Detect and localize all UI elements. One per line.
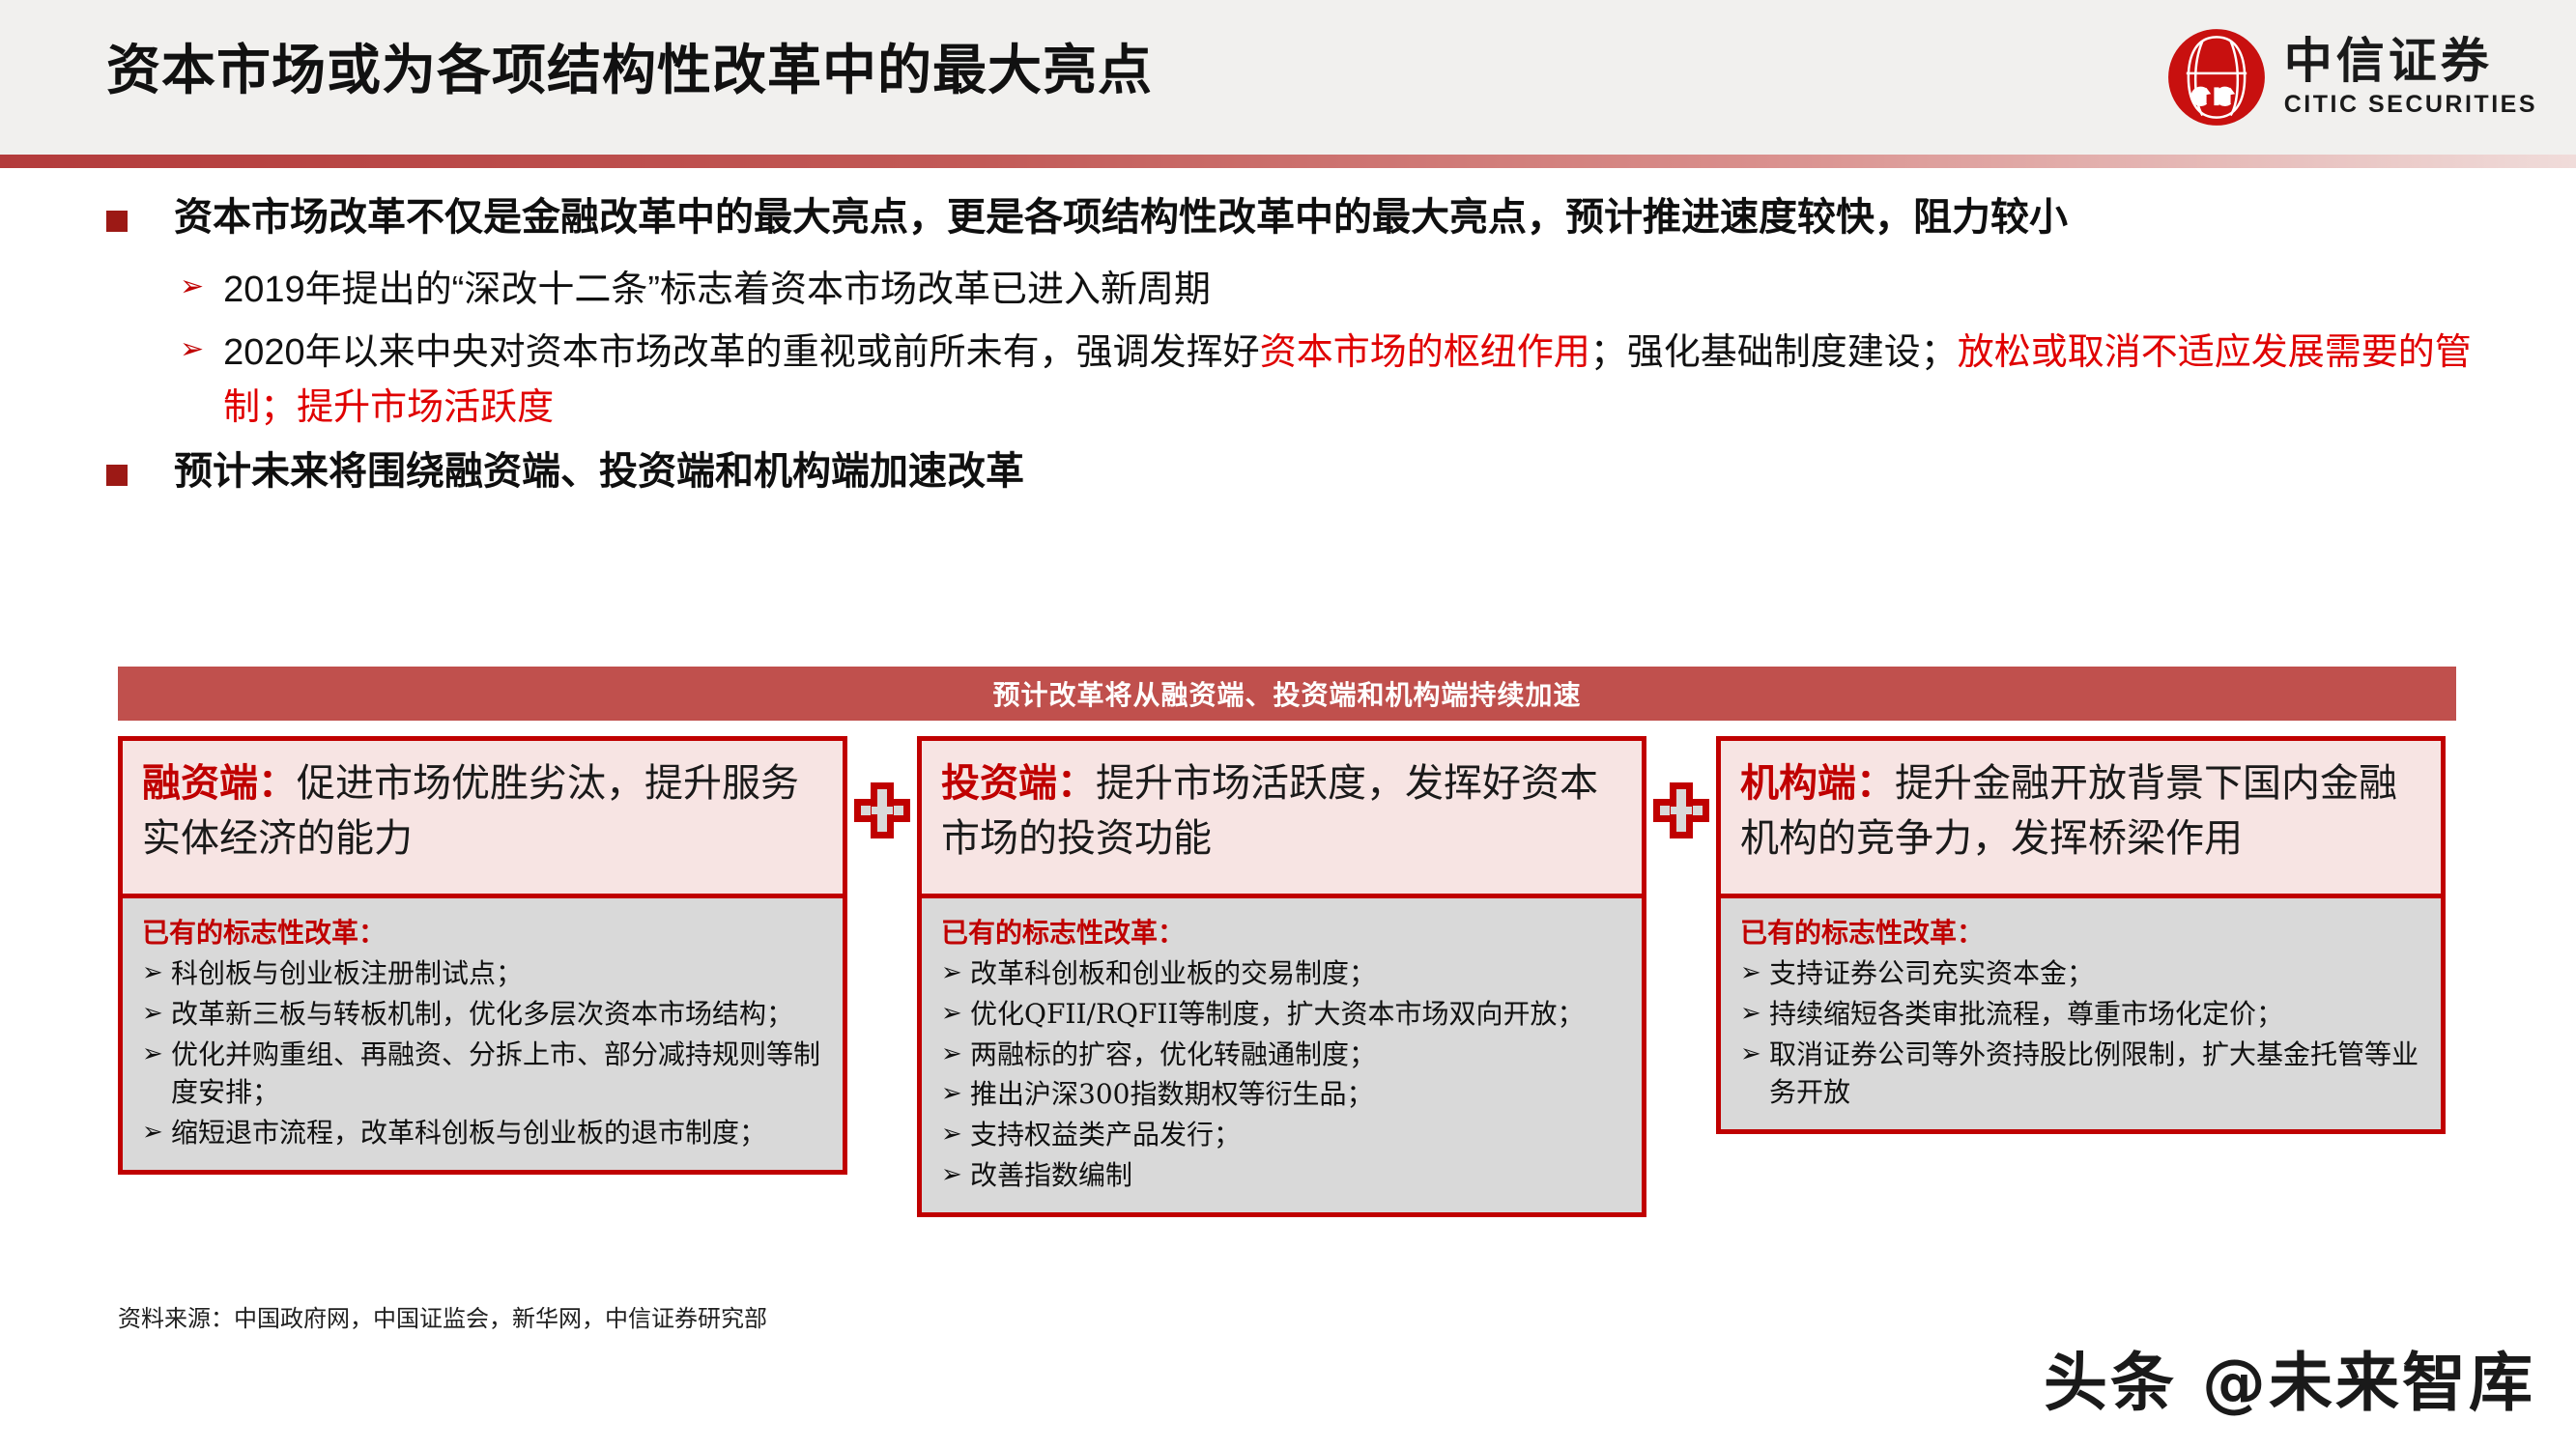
list-item-text: 持续缩短各类审批流程，尊重市场化定价； bbox=[1769, 995, 2423, 1034]
column-label: 机构端： bbox=[1740, 760, 1895, 806]
column-headline: 机构端：提升金融开放背景下国内金融机构的竞争力，发挥桥梁作用 bbox=[1740, 756, 2421, 867]
bullet-level2-text-rich: 2020年以来中央对资本市场改革的重视或前所未有，强调发挥好资本市场的枢纽作用；… bbox=[223, 326, 2523, 436]
list-item: ➢推出沪深300指数期权等衍生品； bbox=[941, 1075, 1624, 1114]
column-header-box: 机构端：提升金融开放背景下国内金融机构的竞争力，发挥桥梁作用 bbox=[1716, 736, 2446, 898]
arrow-bullet-icon: ➢ bbox=[142, 1036, 171, 1073]
bullet-list: 资本市场改革不仅是金融改革中的最大亮点，更是各项结构性改革中的最大亮点，预计推进… bbox=[0, 189, 2576, 517]
list-item-text: 优化并购重组、再融资、分拆上市、部分减持规则等制度安排； bbox=[171, 1036, 825, 1113]
list-item: ➢改善指数编制 bbox=[941, 1156, 1624, 1195]
bullet-level1-text: 资本市场改革不仅是金融改革中的最大亮点，更是各项结构性改革中的最大亮点，预计推进… bbox=[174, 189, 2068, 245]
section-banner: 预计改革将从融资端、投资端和机构端持续加速 bbox=[118, 667, 2456, 721]
arrow-bullet-icon: ➢ bbox=[1740, 954, 1769, 992]
column-header-box: 投资端：提升市场活跃度，发挥好资本市场的投资功能 bbox=[917, 736, 1646, 898]
column-label: 融资端： bbox=[142, 760, 297, 806]
list-item: ➢优化QFII/RQFII等制度，扩大资本市场双向开放； bbox=[941, 995, 1624, 1034]
column-body-title: 已有的标志性改革： bbox=[941, 912, 1624, 951]
logo-wordmark: 中信证券 CITIC SECURITIES bbox=[2284, 36, 2537, 119]
arrow-bullet-icon: ➢ bbox=[180, 335, 204, 364]
list-item: ➢取消证券公司等外资持股比例限制，扩大基金托管等业务开放 bbox=[1740, 1036, 2423, 1113]
arrow-bullet-icon: ➢ bbox=[142, 1114, 171, 1151]
arrow-bullet-icon: ➢ bbox=[941, 1075, 970, 1113]
column-headline: 投资端：提升市场活跃度，发挥好资本市场的投资功能 bbox=[941, 756, 1622, 867]
square-bullet-icon bbox=[106, 211, 128, 232]
list-item-text: 支持证券公司充实资本金； bbox=[1769, 954, 2423, 993]
list-item-text: 缩短退市流程，改革科创板与创业板的退市制度； bbox=[171, 1114, 825, 1152]
list-item-text: 支持权益类产品发行； bbox=[970, 1116, 1624, 1154]
arrow-bullet-icon: ➢ bbox=[941, 1036, 970, 1073]
list-item: ➢优化并购重组、再融资、分拆上市、部分减持规则等制度安排； bbox=[142, 1036, 825, 1113]
arrow-bullet-icon: ➢ bbox=[941, 954, 970, 992]
column-body-title: 已有的标志性改革： bbox=[1740, 912, 2423, 951]
column-header-box: 融资端：促进市场优胜劣汰，提升服务实体经济的能力 bbox=[118, 736, 847, 898]
list-item: ➢支持权益类产品发行； bbox=[941, 1116, 1624, 1154]
list-item-text: 推出沪深300指数期权等衍生品； bbox=[970, 1075, 1624, 1114]
connector-slot bbox=[1646, 736, 1716, 838]
column-headline: 融资端：促进市场优胜劣汰，提升服务实体经济的能力 bbox=[142, 756, 823, 867]
arrow-bullet-icon: ➢ bbox=[941, 1116, 970, 1153]
source-note: 资料来源：中国政府网，中国证监会，新华网，中信证券研究部 bbox=[118, 1299, 767, 1333]
list-item: ➢缩短退市流程，改革科创板与创业板的退市制度； bbox=[142, 1114, 825, 1152]
connector-slot bbox=[847, 736, 917, 838]
column-label: 投资端： bbox=[941, 760, 1096, 806]
bullet-level2-item: ➢ 2020年以来中央对资本市场改革的重视或前所未有，强调发挥好资本市场的枢纽作… bbox=[0, 326, 2576, 436]
arrow-bullet-icon: ➢ bbox=[180, 272, 204, 301]
square-bullet-icon bbox=[106, 465, 128, 486]
slide-header: 资本市场或为各项结构性改革中的最大亮点 中信证券 CITIC SECURITIE… bbox=[0, 0, 2576, 155]
watermark: 头条 @未来智库 bbox=[2044, 1331, 2535, 1424]
column-institution-side: 机构端：提升金融开放背景下国内金融机构的竞争力，发挥桥梁作用 已有的标志性改革：… bbox=[1716, 736, 2446, 1134]
column-body-box: 已有的标志性改革： ➢支持证券公司充实资本金； ➢持续缩短各类审批流程，尊重市场… bbox=[1716, 898, 2446, 1134]
column-body-title: 已有的标志性改革： bbox=[142, 912, 825, 951]
list-item: ➢科创板与创业板注册制试点； bbox=[142, 954, 825, 993]
list-item-text: 科创板与创业板注册制试点； bbox=[171, 954, 825, 993]
citic-emblem-icon bbox=[2166, 27, 2267, 128]
list-item: ➢支持证券公司充实资本金； bbox=[1740, 954, 2423, 993]
list-item: ➢改革科创板和创业板的交易制度； bbox=[941, 954, 1624, 993]
list-item-text: 取消证券公司等外资持股比例限制，扩大基金托管等业务开放 bbox=[1769, 1036, 2423, 1113]
list-item: ➢两融标的扩容，优化转融通制度； bbox=[941, 1036, 1624, 1074]
logo-chinese-name: 中信证券 bbox=[2284, 36, 2537, 87]
bullet-level1-text: 预计未来将围绕融资端、投资端和机构端加速改革 bbox=[174, 443, 1024, 499]
column-financing-side: 融资端：促进市场优胜劣汰，提升服务实体经济的能力 已有的标志性改革： ➢科创板与… bbox=[118, 736, 847, 1175]
logo-english-name: CITIC SECURITIES bbox=[2284, 91, 2537, 119]
arrow-bullet-icon: ➢ bbox=[941, 995, 970, 1033]
column-investment-side: 投资端：提升市场活跃度，发挥好资本市场的投资功能 已有的标志性改革： ➢改革科创… bbox=[917, 736, 1646, 1217]
bullet-level2-text: 2019年提出的“深改十二条”标志着资本市场改革已进入新周期 bbox=[223, 263, 1211, 318]
text-highlight: 资本市场的枢纽作用 bbox=[1260, 332, 1590, 373]
list-item-text: 改革新三板与转板机制，优化多层次资本市场结构； bbox=[171, 995, 825, 1034]
page-title: 资本市场或为各项结构性改革中的最大亮点 bbox=[106, 27, 1153, 105]
bullet-level2-item: ➢ 2019年提出的“深改十二条”标志着资本市场改革已进入新周期 bbox=[0, 263, 2576, 318]
text-plain: 2020年以来中央对资本市场改革的重视或前所未有，强调发挥好 bbox=[223, 332, 1260, 373]
list-item: ➢改革新三板与转板机制，优化多层次资本市场结构； bbox=[142, 995, 825, 1034]
bullet-level1-item: 预计未来将围绕融资端、投资端和机构端加速改革 bbox=[0, 443, 2576, 499]
plus-icon bbox=[1653, 782, 1709, 838]
text-plain: ；强化基础制度建设； bbox=[1590, 332, 1958, 373]
arrow-bullet-icon: ➢ bbox=[142, 954, 171, 992]
citic-securities-logo: 中信证券 CITIC SECURITIES bbox=[2166, 21, 2537, 133]
arrow-bullet-icon: ➢ bbox=[1740, 1036, 1769, 1073]
list-item: ➢持续缩短各类审批流程，尊重市场化定价； bbox=[1740, 995, 2423, 1034]
list-item-text: 改善指数编制 bbox=[970, 1156, 1624, 1195]
column-body-box: 已有的标志性改革： ➢科创板与创业板注册制试点； ➢改革新三板与转板机制，优化多… bbox=[118, 898, 847, 1175]
column-body-box: 已有的标志性改革： ➢改革科创板和创业板的交易制度； ➢优化QFII/RQFII… bbox=[917, 898, 1646, 1217]
arrow-bullet-icon: ➢ bbox=[1740, 995, 1769, 1033]
list-item-text: 改革科创板和创业板的交易制度； bbox=[970, 954, 1624, 993]
plus-icon bbox=[854, 782, 910, 838]
arrow-bullet-icon: ➢ bbox=[142, 995, 171, 1033]
list-item-text: 两融标的扩容，优化转融通制度； bbox=[970, 1036, 1624, 1074]
arrow-bullet-icon: ➢ bbox=[941, 1156, 970, 1194]
reform-columns: 融资端：促进市场优胜劣汰，提升服务实体经济的能力 已有的标志性改革： ➢科创板与… bbox=[118, 736, 2456, 1217]
list-item-text: 优化QFII/RQFII等制度，扩大资本市场双向开放； bbox=[970, 995, 1624, 1034]
bullet-level1-item: 资本市场改革不仅是金融改革中的最大亮点，更是各项结构性改革中的最大亮点，预计推进… bbox=[0, 189, 2576, 245]
header-divider bbox=[0, 155, 2576, 168]
